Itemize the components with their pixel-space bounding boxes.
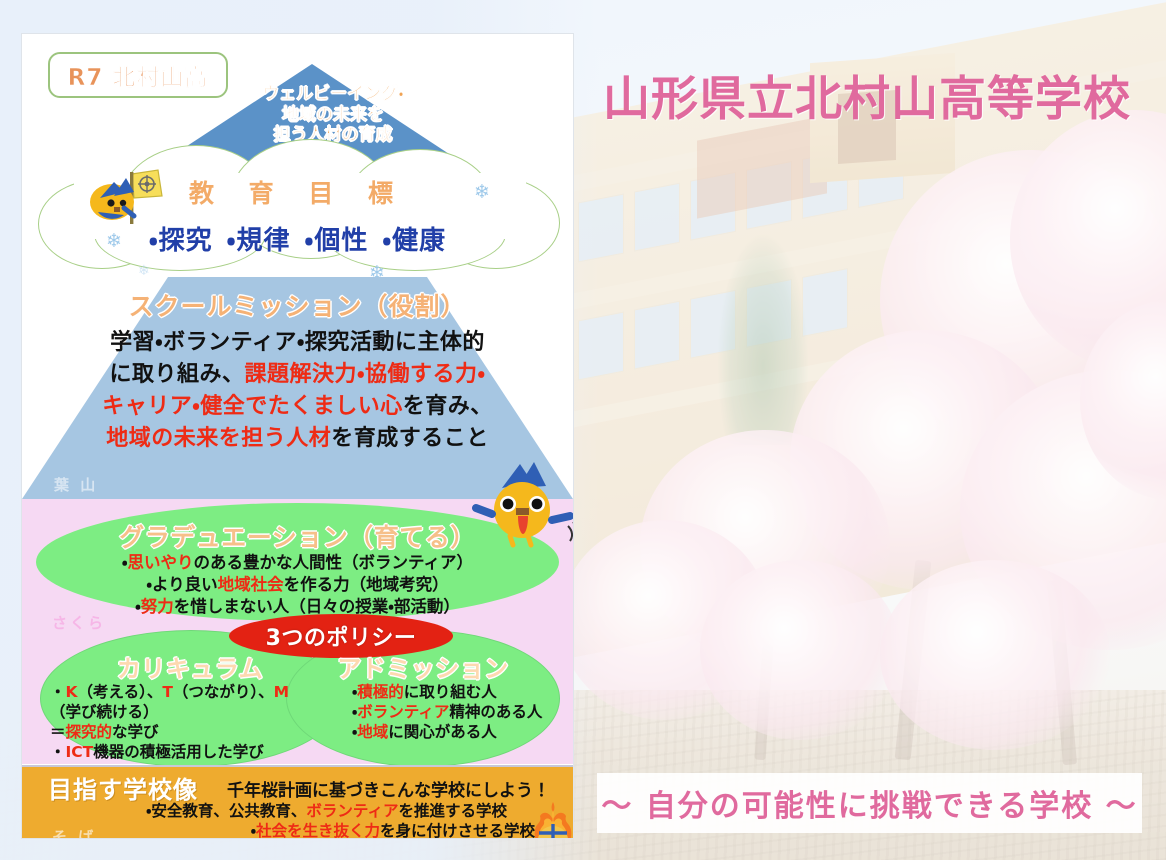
mission-line-2: キャリア・健全でたくましい心を育み、 — [50, 391, 545, 423]
mission-line-3: 地域の未来を担う人材を育成すること — [50, 423, 545, 455]
curriculum-item-2: ・ICT機器の積極活用した学び — [50, 742, 312, 762]
curriculum-item-1: ＝探究的な学び — [50, 722, 312, 742]
vision-line-1: ウェルビーイング・ — [198, 84, 468, 105]
vision-text: ウェルビーイング・ 地域の未来を 担う人材の育成 — [198, 84, 468, 146]
admission-item-1: ・ボランティア精神のある人 — [352, 702, 562, 722]
target-school-item-1: ・社会を生き抜く力を身に付けさせる学校 — [22, 822, 559, 838]
target-school-subheading: 千年桜計画に基づきこんな学校にしよう！ — [227, 776, 550, 801]
flame-emblem-icon — [519, 800, 573, 838]
slide-canvas: 山形県立北村山高等学校 ～ 自分の可能性に挑戦できる学校 ～ R7 北村山高 ウ… — [0, 0, 1166, 860]
mascot-with-flag-icon — [84, 158, 176, 230]
snowflake-icon: ❄ — [106, 230, 122, 252]
goal-item-3: ・健康 — [382, 226, 446, 256]
graduation-item-2: ・努力を惜しまない人（日々の授業・部活動） — [22, 596, 573, 618]
mission-line-1: に取り組み、課題解決力・協働する力・ — [50, 359, 545, 391]
page-title: 山形県立北村山高等学校 — [603, 60, 1131, 129]
admission-heading: アドミッション — [294, 649, 552, 684]
goal-item-0: ・探究 — [149, 226, 213, 256]
mascot-cheering-icon — [468, 458, 573, 558]
three-policies-label: 3つのポリシー — [266, 620, 417, 652]
school-plan-poster: R7 北村山高 ウェルビーイング・ 地域の未来を 担う人材の育成 教 育 目 標… — [22, 34, 573, 838]
target-school-heading: 目指す学校像 — [48, 770, 198, 805]
vision-line-2: 地域の未来を — [198, 105, 468, 126]
curriculum-item-0: ・K（考える）、T（つながり）、M（学び続ける） — [50, 682, 312, 722]
snowflake-icon: ❄ — [474, 181, 490, 203]
target-school-item-0: ・安全教育、公共教育、ボランティアを推進する学校 — [22, 802, 559, 822]
watermark-hayama: 葉 山 — [54, 474, 98, 495]
graduation-policy-list: ・思いやりのある豊かな人間性（ボランティア）・より良い地域社会を作る力（地域考究… — [22, 552, 573, 617]
curriculum-list: ・K（考える）、T（つながり）、M（学び続ける）＝探究的な学び・ICT機器の積極… — [50, 682, 312, 763]
admission-list: ・積極的に取り組む人・ボランティア精神のある人・地域に関心がある人 — [352, 682, 562, 742]
goal-item-1: ・規律 — [227, 226, 291, 256]
admission-item-0: ・積極的に取り組む人 — [352, 682, 562, 702]
school-mission-body: 学習・ボランティア・探究活動に主体的に取り組み、課題解決力・協働する力・キャリア… — [50, 327, 545, 455]
school-mission-heading: スクールミッション（役割） — [22, 287, 573, 323]
snowflake-icon: ❄ — [138, 263, 150, 279]
mission-line-0: 学習・ボランティア・探究活動に主体的 — [50, 327, 545, 359]
graduation-item-1: ・より良い地域社会を作る力（地域考究） — [22, 574, 573, 596]
tagline-text: ～ 自分の可能性に挑戦できる学校 ～ — [601, 781, 1137, 825]
goal-item-2: ・個性 — [305, 226, 369, 256]
tagline-box: ～ 自分の可能性に挑戦できる学校 ～ — [597, 773, 1142, 833]
watermark-soba: そ ば — [52, 826, 96, 838]
admission-item-2: ・地域に関心がある人 — [352, 722, 562, 742]
target-school-list: ・安全教育、公共教育、ボランティアを推進する学校・社会を生き抜く力を身に付けさせ… — [22, 802, 559, 838]
